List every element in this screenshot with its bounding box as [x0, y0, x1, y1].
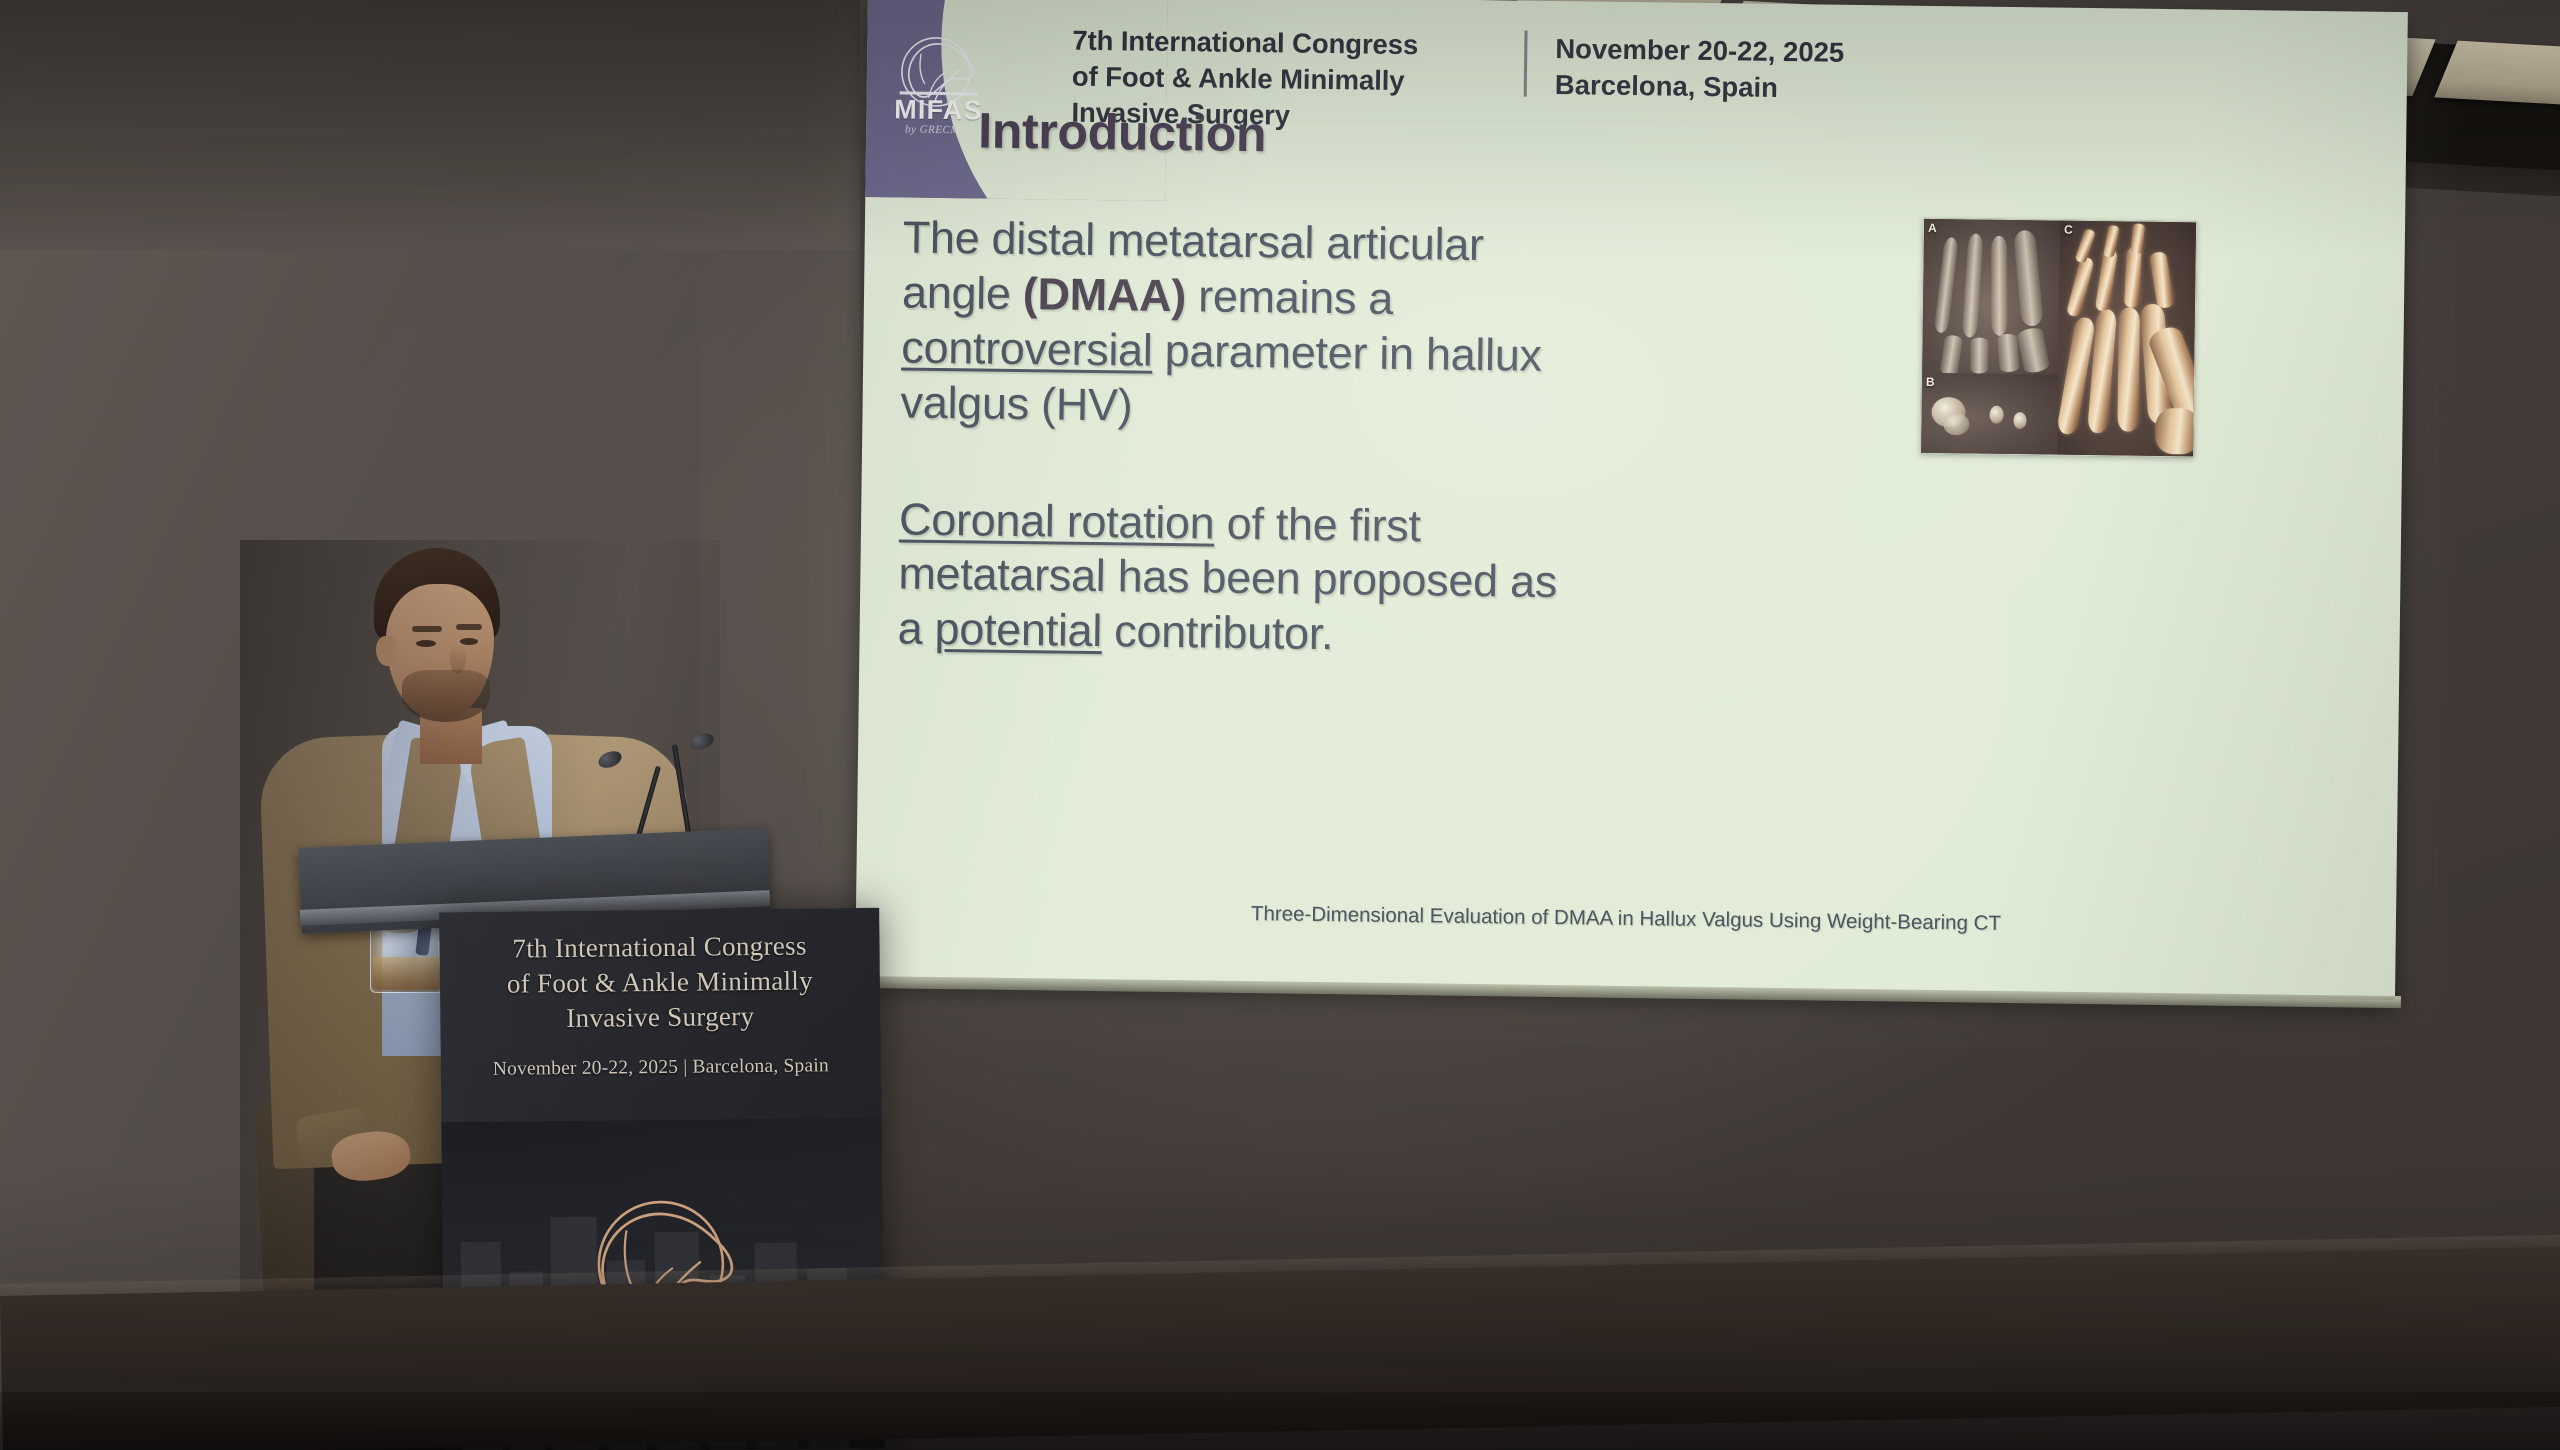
weight-bearing-ct-figure: A B [1920, 218, 2197, 458]
water-glass-liquid [373, 957, 441, 990]
congress-title-line1: 7th International Congress [1072, 23, 1502, 64]
p2-potential-underline: potential [934, 603, 1102, 656]
congress-date-header: November 20-22, 2025 Barcelona, Spain [1555, 31, 1936, 107]
projection-screen: MIFAS by GRECMIP 7th International Congr… [855, 0, 2560, 1024]
figure-label-c: C [2064, 223, 2073, 237]
left-wall-upper-shadow [0, 0, 880, 250]
speaker-brow-left [412, 626, 442, 632]
speaker-eye-right [460, 638, 478, 645]
figure-panel-c: C [2057, 221, 2196, 457]
slide-body: The distal metatarsal articular angle (D… [897, 210, 1563, 665]
figure-panel-a: A [1922, 219, 2060, 375]
lectern-sign-line2: of Foot & Ankle Minimally [458, 963, 862, 1002]
p2-seg4: contributor. [1102, 605, 1334, 659]
figure-label-a: A [1928, 221, 1937, 235]
slide-paragraph-1: The distal metatarsal articular angle (D… [900, 210, 1563, 438]
figure-panel-b: B [1921, 373, 2058, 454]
speaker-brow-right [456, 624, 482, 630]
header-divider [1524, 31, 1528, 97]
speaker-ear [376, 636, 396, 666]
slide-paragraph-2: Coronal rotation of the first metatarsal… [897, 492, 1559, 665]
lectern-sign-text: 7th International Congress of Foot & Ank… [457, 928, 863, 1083]
p1-dmaa-bold: (DMAA) [1023, 268, 1187, 321]
p1-seg3: remains a [1186, 270, 1394, 324]
slide-footer-caption: Three-Dimensional Evaluation of DMAA in … [856, 897, 2396, 941]
congress-city-line: Barcelona, Spain [1555, 67, 1935, 108]
conference-room-photo: MIFAS by GRECMIP 7th International Congr… [0, 0, 2560, 1450]
mifas-wordmark: MIFAS [890, 96, 986, 124]
lectern-sign-line4: November 20-22, 2025 | Barcelona, Spain [459, 1053, 863, 1083]
mifas-logo-slide: MIFAS by GRECMIP [890, 10, 988, 139]
stage-floor-shadow [0, 1392, 2560, 1450]
speaker-eye-left [416, 640, 436, 647]
figure-label-b: B [1926, 375, 1935, 389]
mifas-sub-wordmark: by GRECMIP [890, 123, 986, 136]
slide-section-title: Introduction [978, 101, 1267, 163]
congress-date-line: November 20-22, 2025 [1555, 31, 1935, 72]
lectern-sign-line1: 7th International Congress [457, 928, 861, 967]
p1-controversial-underline: controversial [901, 321, 1153, 375]
speaker-beard [402, 670, 490, 722]
p2-coronal-underline: Coronal rotation [899, 493, 1215, 548]
slide-surface: MIFAS by GRECMIP 7th International Congr… [855, 0, 2408, 1000]
lectern-sign-line3: Invasive Surgery [458, 998, 862, 1037]
